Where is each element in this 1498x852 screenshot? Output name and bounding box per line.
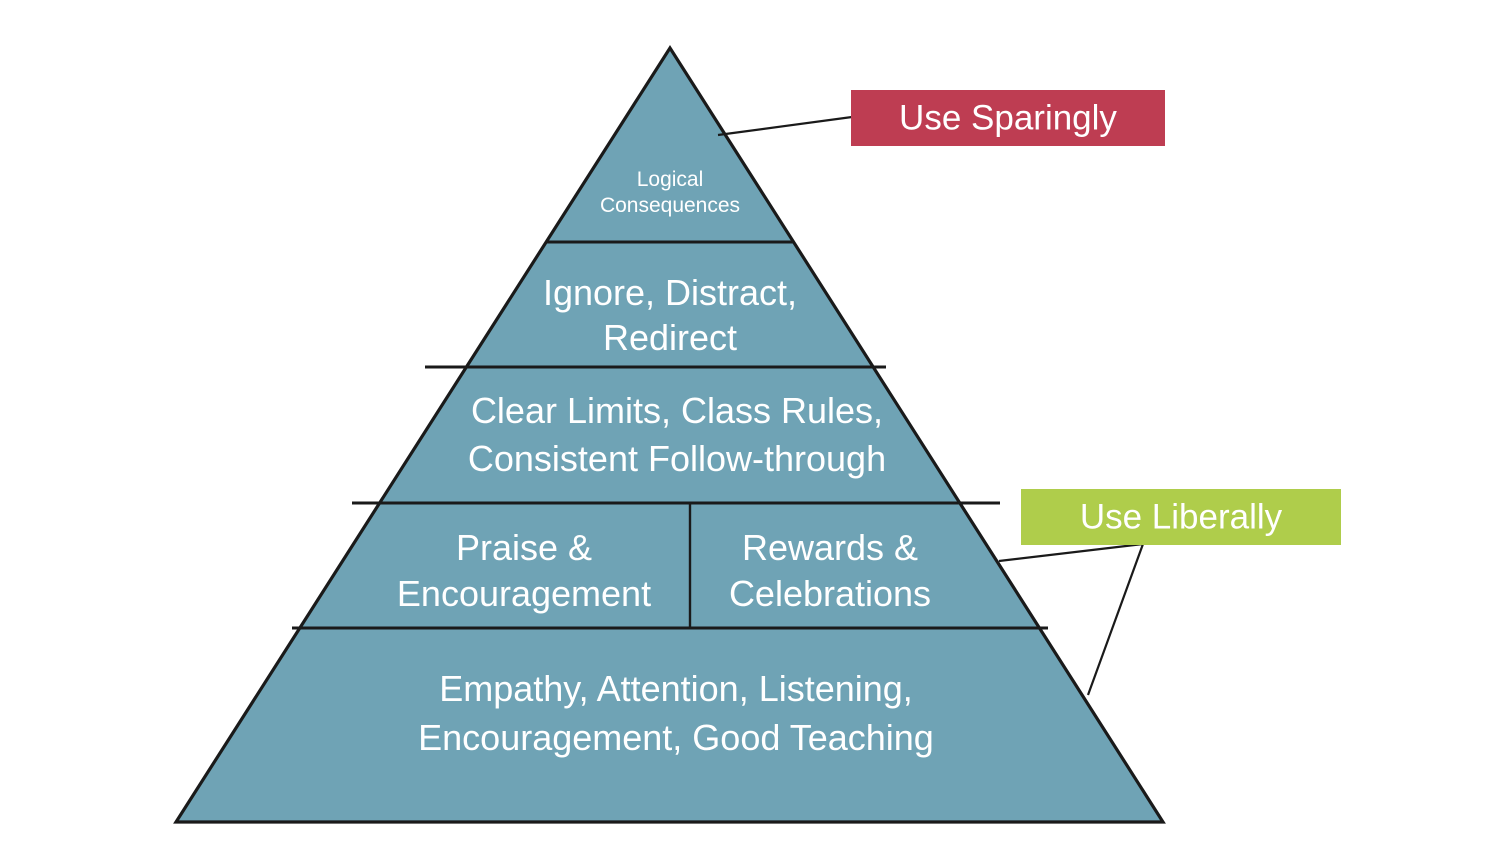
leader-line-liberally-lower xyxy=(1088,544,1143,695)
badge-sparingly-label: Use Sparingly xyxy=(899,98,1117,137)
badge-use-sparingly[interactable]: Use Sparingly xyxy=(851,90,1165,146)
tier-4-praise-line-1: Praise & xyxy=(456,527,592,568)
badge-liberally-label: Use Liberally xyxy=(1080,497,1283,536)
behavior-pyramid-diagram: Logical Consequences Ignore, Distract, R… xyxy=(0,0,1498,852)
tier-3-line-2: Consistent Follow-through xyxy=(468,438,886,479)
leader-line-sparingly xyxy=(718,117,852,135)
badge-use-liberally[interactable]: Use Liberally xyxy=(1021,489,1341,545)
tier-1-line-1: Logical xyxy=(637,168,704,191)
tier-4-rewards-line-2: Celebrations xyxy=(729,573,931,614)
tier-4-praise-line-2: Encouragement xyxy=(397,573,651,614)
tier-2-line-1: Ignore, Distract, xyxy=(543,272,797,313)
diagram-canvas: Logical Consequences Ignore, Distract, R… xyxy=(0,0,1498,852)
leader-line-liberally-upper xyxy=(999,544,1143,561)
tier-1-line-2: Consequences xyxy=(600,194,740,217)
tier-3-line-1: Clear Limits, Class Rules, xyxy=(471,390,883,431)
tier-5-line-1: Empathy, Attention, Listening, xyxy=(439,668,913,709)
tier-5-line-2: Encouragement, Good Teaching xyxy=(418,717,934,758)
tier-4-rewards-line-1: Rewards & xyxy=(742,527,918,568)
tier-2-line-2: Redirect xyxy=(603,317,737,358)
